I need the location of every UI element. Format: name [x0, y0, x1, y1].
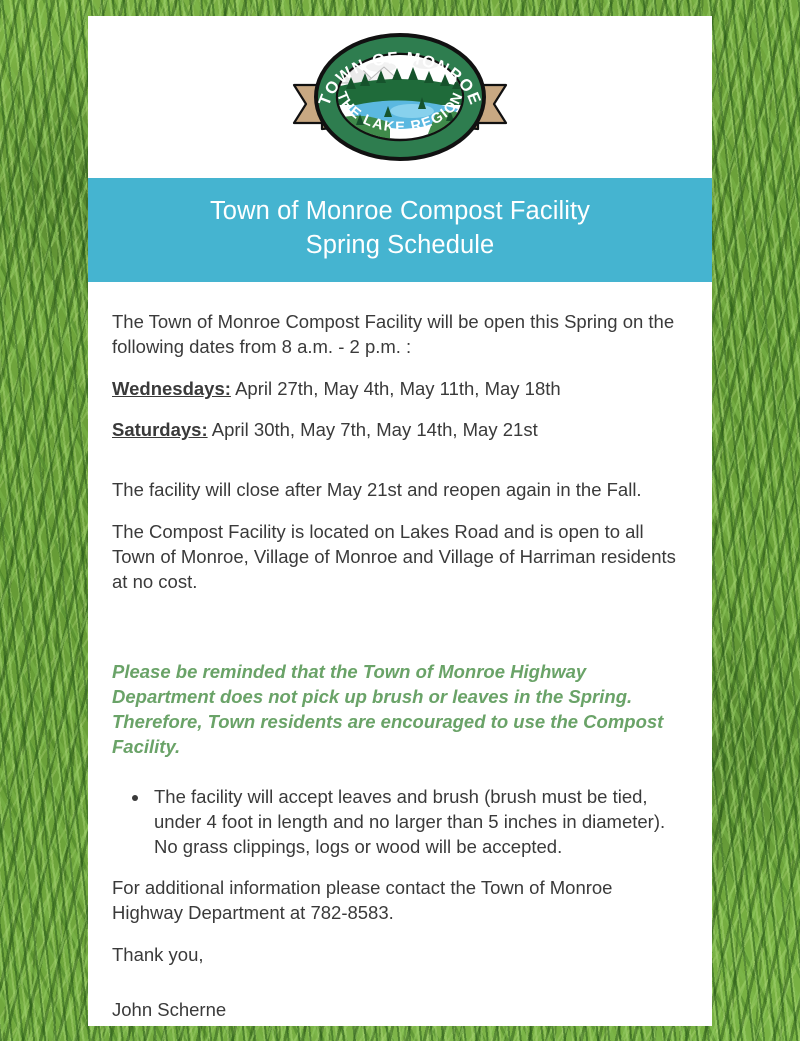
spacer — [112, 759, 686, 785]
wednesdays-dates: April 27th, May 4th, May 11th, May 18th — [235, 378, 561, 399]
location-note: The Compost Facility is located on Lakes… — [112, 520, 686, 595]
accepted-materials-list: The facility will accept leaves and brus… — [112, 785, 686, 860]
flyer-card: TOWN OF MONROE THE LAKE REGION Town of M… — [88, 16, 712, 1026]
wednesdays-label: Wednesdays: — [112, 378, 231, 399]
schedule-wednesdays: Wednesdays: April 27th, May 4th, May 11t… — [112, 377, 686, 402]
schedule-saturdays: Saturdays: April 30th, May 7th, May 14th… — [112, 418, 686, 443]
green-reminder-note: Please be reminded that the Town of Monr… — [112, 659, 686, 760]
spacer — [112, 985, 686, 998]
logo-area: TOWN OF MONROE THE LAKE REGION — [88, 16, 712, 178]
signature-name: John Scherne — [112, 998, 686, 1023]
intro-paragraph: The Town of Monroe Compost Facility will… — [112, 310, 686, 360]
saturdays-dates: April 30th, May 7th, May 14th, May 21st — [212, 419, 538, 440]
closing-note: The facility will close after May 21st a… — [112, 478, 686, 503]
contact-paragraph: For additional information please contac… — [112, 876, 686, 926]
page-title-banner: Town of Monroe Compost Facility Spring S… — [88, 178, 712, 282]
list-item: The facility will accept leaves and brus… — [150, 785, 686, 860]
spacer — [112, 459, 686, 478]
town-seal-logo: TOWN OF MONROE THE LAKE REGION — [286, 31, 514, 163]
spacer — [112, 612, 686, 659]
signature-title: Highway Superintendent — [112, 1023, 686, 1026]
body-content: The Town of Monroe Compost Facility will… — [88, 282, 712, 1026]
banner-line-2: Spring Schedule — [98, 229, 702, 263]
saturdays-label: Saturdays: — [112, 419, 208, 440]
thank-you-text: Thank you, — [112, 943, 686, 968]
town-of-monroe-seal-icon: TOWN OF MONROE THE LAKE REGION — [286, 31, 514, 163]
banner-line-1: Town of Monroe Compost Facility — [98, 195, 702, 229]
